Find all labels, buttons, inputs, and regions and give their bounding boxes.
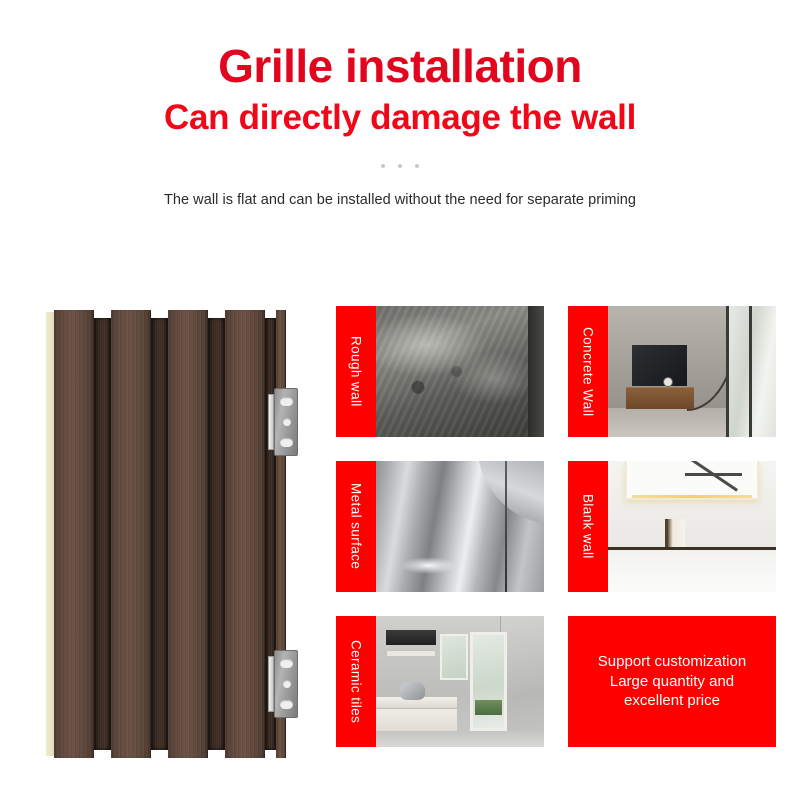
promo-card: Support customization Large quantity and… bbox=[568, 616, 776, 747]
scenario-card-rough-wall: Rough wall bbox=[336, 306, 544, 437]
promo-line-2: Large quantity and bbox=[610, 673, 734, 690]
tiled-floor bbox=[376, 731, 544, 747]
panel-slat bbox=[111, 310, 151, 758]
rough-wall-photo bbox=[376, 306, 544, 437]
concrete-wall-photo bbox=[608, 306, 776, 437]
panel-slat bbox=[54, 310, 94, 758]
promo-line-1: Support customization bbox=[598, 653, 746, 670]
clip-body bbox=[274, 388, 298, 456]
scenario-grid: Rough wall Concrete Wall bbox=[336, 306, 776, 771]
headline-primary: Grille installation bbox=[0, 42, 800, 91]
kettle-icon bbox=[400, 682, 425, 700]
scenario-label-band: Rough wall bbox=[336, 306, 376, 437]
panel-slats bbox=[54, 310, 286, 758]
clip-slot bbox=[280, 397, 293, 406]
divider-dot bbox=[381, 164, 385, 168]
scenario-label: Ceramic tiles bbox=[349, 640, 364, 723]
scenario-card-metal-surface: Metal surface bbox=[336, 461, 544, 592]
metal-curve bbox=[477, 461, 544, 524]
tiled-floor bbox=[608, 547, 776, 592]
scenario-label-band: Ceramic tiles bbox=[336, 616, 376, 747]
television bbox=[632, 345, 687, 386]
wall-shelf bbox=[386, 650, 436, 657]
promo-text: Support customization Large quantity and… bbox=[598, 652, 746, 711]
mounting-clip-lower bbox=[268, 650, 298, 718]
glass-door bbox=[726, 306, 776, 437]
scenario-label: Metal surface bbox=[349, 483, 364, 569]
promo-line-3: excellent price bbox=[624, 692, 720, 709]
clip-slot bbox=[280, 659, 293, 668]
clip-hole bbox=[283, 680, 291, 688]
scenario-row: Metal surface Blank wall bbox=[336, 461, 776, 592]
scenario-label: Concrete Wall bbox=[581, 327, 596, 416]
wall-panel bbox=[46, 310, 286, 758]
scenario-label-band: Concrete Wall bbox=[568, 306, 608, 437]
metal-highlight bbox=[400, 557, 457, 574]
panel-groove bbox=[151, 318, 168, 750]
cove-light bbox=[632, 495, 753, 498]
product-panel-image bbox=[46, 310, 298, 758]
blank-wall-photo bbox=[608, 461, 776, 592]
panel-groove bbox=[208, 318, 225, 750]
panel-slat bbox=[168, 310, 208, 758]
ceiling-fixture-icon bbox=[685, 466, 742, 482]
mounting-clip-upper bbox=[268, 388, 298, 456]
metal-edge bbox=[505, 461, 507, 592]
dot-divider bbox=[0, 164, 800, 168]
scenario-card-concrete-wall: Concrete Wall bbox=[568, 306, 776, 437]
scenario-label-band: Metal surface bbox=[336, 461, 376, 592]
header: Grille installation Can directly damage … bbox=[0, 0, 800, 208]
kitchen-window bbox=[440, 634, 469, 680]
content-area: Rough wall Concrete Wall bbox=[0, 296, 800, 776]
tv-console bbox=[626, 387, 693, 409]
balcony-door bbox=[470, 632, 507, 732]
scenario-card-blank-wall: Blank wall bbox=[568, 461, 776, 592]
panel-groove bbox=[94, 318, 111, 750]
scenario-label-band: Blank wall bbox=[568, 461, 608, 592]
scenario-row: Ceramic tiles bbox=[336, 616, 776, 747]
divider-dot bbox=[398, 164, 402, 168]
ceramic-tiles-photo bbox=[376, 616, 544, 747]
subtitle-text: The wall is flat and can be installed wi… bbox=[0, 192, 800, 208]
clip-slot bbox=[280, 700, 293, 709]
panel-slat bbox=[225, 310, 265, 758]
scenario-label: Rough wall bbox=[349, 336, 364, 407]
clip-hole bbox=[283, 418, 291, 426]
scenario-row: Rough wall Concrete Wall bbox=[336, 306, 776, 437]
clip-slot bbox=[280, 438, 293, 447]
clip-body bbox=[274, 650, 298, 718]
divider-dot bbox=[415, 164, 419, 168]
metal-surface-photo bbox=[376, 461, 544, 592]
range-hood bbox=[386, 630, 436, 644]
scenario-label: Blank wall bbox=[581, 494, 596, 559]
product-marketing-image: Grille installation Can directly damage … bbox=[0, 0, 800, 800]
headline-secondary: Can directly damage the wall bbox=[0, 98, 800, 137]
scenario-card-ceramic-tiles: Ceramic tiles bbox=[336, 616, 544, 747]
